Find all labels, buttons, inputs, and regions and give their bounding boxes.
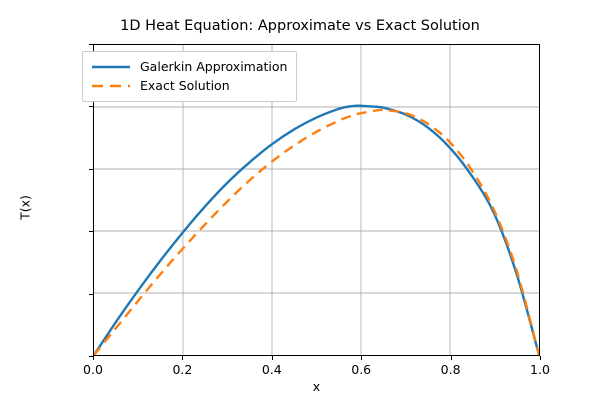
legend-swatch-line-solid [91,61,131,73]
x-tick-label: 0.4 [262,362,282,377]
x-tick-mark [272,356,273,360]
x-tick-mark [182,356,183,360]
x-tick-mark [451,356,452,360]
legend-item-galerkin-approximation: Galerkin Approximation [91,57,288,76]
chart-figure: 1D Heat Equation: Approximate vs Exact S… [0,0,600,400]
x-tick-mark [361,356,362,360]
legend-item-exact-solution: Exact Solution [91,76,288,95]
legend-label: Exact Solution [140,78,230,93]
legend-label: Galerkin Approximation [140,59,287,74]
x-tick-label: 0.8 [441,362,461,377]
x-tick-mark [540,356,541,360]
series-line [94,110,539,355]
x-axis-label: x [93,379,540,394]
y-axis-label: T(x) [18,178,33,238]
x-tick-label: 0.0 [83,362,103,377]
chart-title: 1D Heat Equation: Approximate vs Exact S… [0,18,600,34]
legend-swatch-line-dashed [91,80,131,92]
x-tick-mark [93,356,94,360]
chart-legend: Galerkin Approximation Exact Solution [82,51,297,102]
x-tick-label: 0.2 [172,362,192,377]
x-tick-label: 1.0 [530,362,550,377]
x-tick-label: 0.6 [351,362,371,377]
series-line [94,106,539,355]
